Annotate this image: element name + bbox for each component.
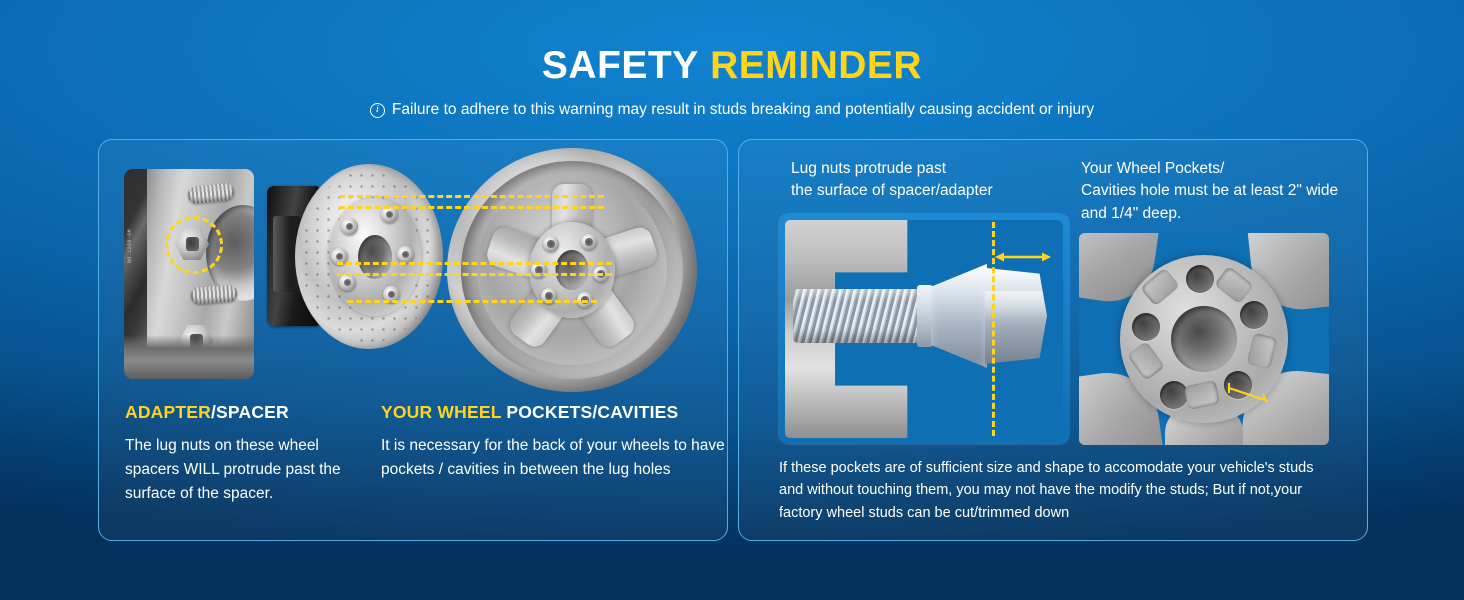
warning-subtitle: i Failure to adhere to this warning may … <box>0 101 1464 119</box>
yellow-measurement-line <box>1227 381 1271 403</box>
label-wheel-pockets-spec: Your Wheel Pockets/ Cavities hole must b… <box>1081 158 1351 225</box>
bolt-threaded-shank <box>793 289 921 343</box>
hub-stud <box>397 246 414 263</box>
wheel-lug-hole <box>543 236 559 252</box>
caption-adapter-spacer: ADAPTER/SPACER The lug nuts on these whe… <box>99 402 355 506</box>
wheel-pocket-cavity <box>1214 266 1254 305</box>
right-panel-footer-text: If these pockets are of sufficient size … <box>779 457 1339 524</box>
page-title: SAFETY REMINDER <box>0 46 1464 85</box>
wheel-spacer-photo: NO.1288-0M <box>124 169 254 379</box>
label-lug-nuts-protrude: Lug nuts protrude past the surface of sp… <box>791 158 1061 203</box>
heading-highlight: YOUR WHEEL <box>381 402 501 422</box>
yellow-dashed-circle-highlight <box>165 216 223 274</box>
wheel-lug-hole <box>1240 301 1268 329</box>
spacer-stud <box>187 183 235 205</box>
spacer-stud <box>190 284 237 304</box>
spacer-engraving-text: NO.1288-0M <box>127 185 149 263</box>
left-panel-captions: ADAPTER/SPACER The lug nuts on these whe… <box>99 402 729 506</box>
yellow-dashed-alignment-line <box>347 300 597 303</box>
wheel-pocket-cavity <box>1184 380 1220 410</box>
wheel-center-bore <box>556 250 589 290</box>
wheel-center-bore <box>1171 306 1237 372</box>
wheel-hub-mounting-pad <box>529 222 615 318</box>
caption-your-wheel-body: It is necessary for the back of your whe… <box>381 434 729 482</box>
wheel-lug-hole <box>581 234 597 250</box>
page-header: SAFETY REMINDER i Failure to adhere to t… <box>0 46 1464 119</box>
caption-adapter-spacer-body: The lug nuts on these wheel spacers WILL… <box>125 434 355 506</box>
wheel-lug-hole <box>1186 265 1214 293</box>
bolt-collar <box>917 285 933 347</box>
wheel-back-face-illustration <box>447 148 697 392</box>
heading-rest: POCKETS/CAVITIES <box>501 402 678 422</box>
adapter-spacer-panel: NO.1288-0M <box>98 139 728 541</box>
left-panel-artwork: NO.1288-0M <box>99 140 729 402</box>
title-word-safety: SAFETY <box>542 44 699 87</box>
caption-adapter-spacer-heading: ADAPTER/SPACER <box>125 402 355 423</box>
wheel-pocket-cavity <box>1127 341 1165 381</box>
brake-rotor-caliper-hub-illustration <box>267 164 442 349</box>
warning-subtitle-text: Failure to adhere to this warning may re… <box>392 101 1094 119</box>
wheel-pockets-panel: Lug nuts protrude past the surface of sp… <box>738 139 1368 541</box>
double-arrow-icon <box>995 251 1051 263</box>
heading-rest: /SPACER <box>211 402 289 422</box>
title-word-reminder: REMINDER <box>710 44 922 87</box>
wheel-hub <box>329 198 421 316</box>
wheel-pockets-cavities-photo <box>1079 233 1329 445</box>
spacer-photo-shadow <box>124 335 254 379</box>
measure-line-icon <box>1227 381 1271 403</box>
yellow-dashed-alignment-line <box>337 273 612 276</box>
label-lug-nuts-protrude-text: Lug nuts protrude past the surface of sp… <box>791 158 1061 203</box>
hub-stud <box>339 274 356 291</box>
lug-bolt-cross-section-diagram <box>779 214 1069 444</box>
yellow-double-arrow-protrusion <box>995 250 1051 262</box>
right-panel-footer-note: If these pockets are of sufficient size … <box>779 457 1339 524</box>
yellow-dashed-alignment-line <box>339 195 604 198</box>
heading-highlight: ADAPTER <box>125 402 211 422</box>
info-icon: i <box>370 103 385 118</box>
caption-your-wheel: YOUR WHEEL POCKETS/CAVITIES It is necess… <box>355 402 729 506</box>
wheel-lug-hole <box>1160 381 1188 409</box>
bolt-diagram-stage <box>785 220 1063 438</box>
hub-stud <box>341 218 358 235</box>
label-wheel-pockets-spec-text: Your Wheel Pockets/ Cavities hole must b… <box>1081 158 1351 225</box>
wheel-lug-hole <box>1132 313 1160 341</box>
yellow-dashed-alignment-line <box>339 206 604 209</box>
wheel-pocket-cavity <box>1246 333 1277 370</box>
caption-your-wheel-heading: YOUR WHEEL POCKETS/CAVITIES <box>381 402 729 423</box>
yellow-dashed-alignment-line <box>337 262 612 265</box>
